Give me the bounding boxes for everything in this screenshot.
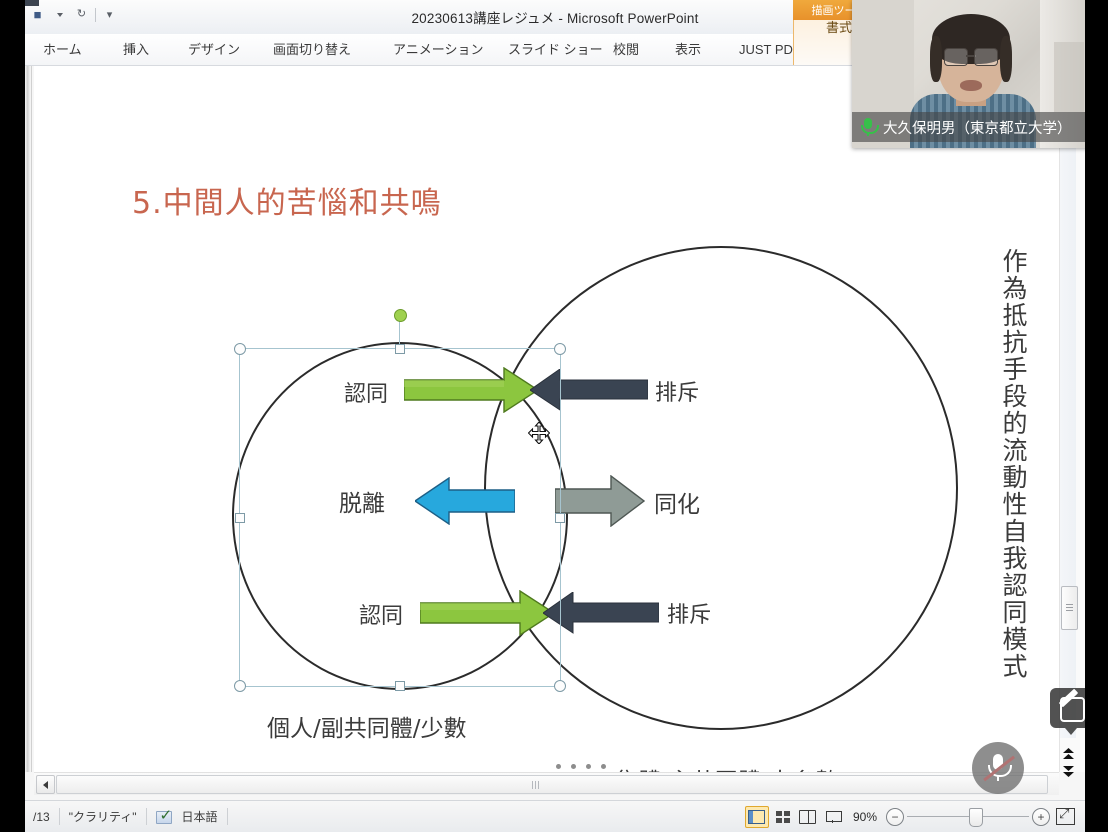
next-slide-button[interactable] [1061,764,1076,779]
participant-glasses [944,48,998,65]
shape-selection-frame [239,348,561,687]
tab-home[interactable]: ホーム [43,37,82,62]
previous-slide-button[interactable] [1061,746,1076,761]
caption-leader-dots [556,764,606,769]
slideshow-view-icon [826,811,840,823]
mute-microphone-button[interactable] [972,742,1024,794]
editing-area: 5.中間人的苦惱和共鳴 認同 排斥 [25,66,1085,800]
pen-button-pointer [1065,728,1077,735]
participant-hair-right [1000,36,1012,82]
slide-title[interactable]: 5.中間人的苦惱和共鳴 [132,178,442,222]
webcam-door [1054,42,1084,112]
resize-handle-ne[interactable] [554,343,566,355]
participant-mouth [960,80,982,91]
fit-slide-to-window-button[interactable] [1056,808,1075,825]
tab-slideshow[interactable]: スライド ショー [508,37,603,62]
label-exclude-bottom[interactable]: 排斥 [667,597,711,629]
thumbnail-pane-collapsed[interactable] [25,66,32,772]
label-assimilate[interactable]: 同化 [654,485,700,519]
zoom-level-label: 90% [853,810,877,824]
slide-counter: /13 [33,810,50,824]
slide-canvas[interactable]: 5.中間人的苦惱和共鳴 認同 排斥 [34,66,1059,772]
scrollbar-grip [532,781,533,789]
spellcheck-icon: ✓ [156,809,176,825]
capture-border-right [1085,0,1108,831]
tab-animations[interactable]: アニメーション [393,37,483,62]
tab-transitions[interactable]: 画面切り替え [273,37,351,62]
language-label: 日本語 [182,808,218,825]
participant-hair-left [930,36,942,82]
screen: ■ ↻ ▾ 20230613講座レジュメ - Microsoft PowerPo… [0,0,1108,831]
vertical-scrollbar-track[interactable] [1060,66,1076,738]
microphone-on-icon [860,118,876,136]
assimilate-arrow[interactable] [555,475,645,527]
resize-handle-nw[interactable] [234,343,246,355]
participant-name-bar: 大久保明男（東京都立大学） [852,112,1092,142]
slide-sorter-icon [776,811,790,823]
normal-view-button[interactable] [745,806,769,828]
resize-handle-w[interactable] [235,513,245,523]
status-divider [227,808,228,825]
move-cursor [528,422,550,444]
status-divider [59,808,60,825]
rotation-handle[interactable] [394,309,407,322]
chevron-left-icon[interactable] [36,775,55,794]
resize-handle-sw[interactable] [234,680,246,692]
normal-view-icon [748,810,765,824]
right-circle-caption[interactable]: 集體/主共同體/大多數 [615,762,838,772]
tab-insert[interactable]: 挿入 [123,37,149,62]
resize-handle-n[interactable] [395,344,405,354]
double-chevron-down-icon [1062,766,1075,778]
vertical-scrollbar-thumb[interactable] [1061,586,1078,630]
status-bar: /13 "クラリティ" ✓ 日本語 [25,800,1085,832]
vertical-note-text[interactable]: 作為抵抗手段的流動性自我認同模式 [986,248,1026,680]
webcam-overlay[interactable]: 大久保明男（東京都立大学） [852,0,1092,148]
slideshow-view-button[interactable] [822,807,844,827]
horizontal-scrollbar[interactable] [34,772,1059,795]
horizontal-scrollbar-thumb[interactable] [56,775,1048,794]
label-exclude-top[interactable]: 排斥 [655,375,699,407]
left-circle-caption[interactable]: 個人/副共同體/少數 [267,709,467,743]
status-divider [146,808,147,825]
zoom-slider-handle[interactable] [969,808,983,827]
reading-view-button[interactable] [797,807,819,827]
status-right-group: 90% − + [745,806,1085,828]
tab-view[interactable]: 表示 [675,37,701,62]
double-chevron-up-icon [1062,748,1075,760]
tab-review[interactable]: 校閲 [613,37,639,62]
zoom-slider[interactable] [907,816,1029,817]
zoom-in-button[interactable]: + [1032,808,1050,826]
spellcheck-status[interactable]: ✓ 日本語 [156,808,218,825]
theme-name[interactable]: "クラリティ" [69,808,137,825]
resize-handle-se[interactable] [554,680,566,692]
participant-name: 大久保明男（東京都立大学） [883,117,1072,138]
resize-handle-e[interactable] [555,513,565,523]
capture-border-left [0,0,25,831]
resize-handle-s[interactable] [395,681,405,691]
slide-sorter-button[interactable] [772,807,794,827]
tab-design[interactable]: デザイン [188,37,240,62]
reading-view-icon [799,810,816,824]
window-top-strip [25,0,39,6]
zoom-out-button[interactable]: − [886,808,904,826]
